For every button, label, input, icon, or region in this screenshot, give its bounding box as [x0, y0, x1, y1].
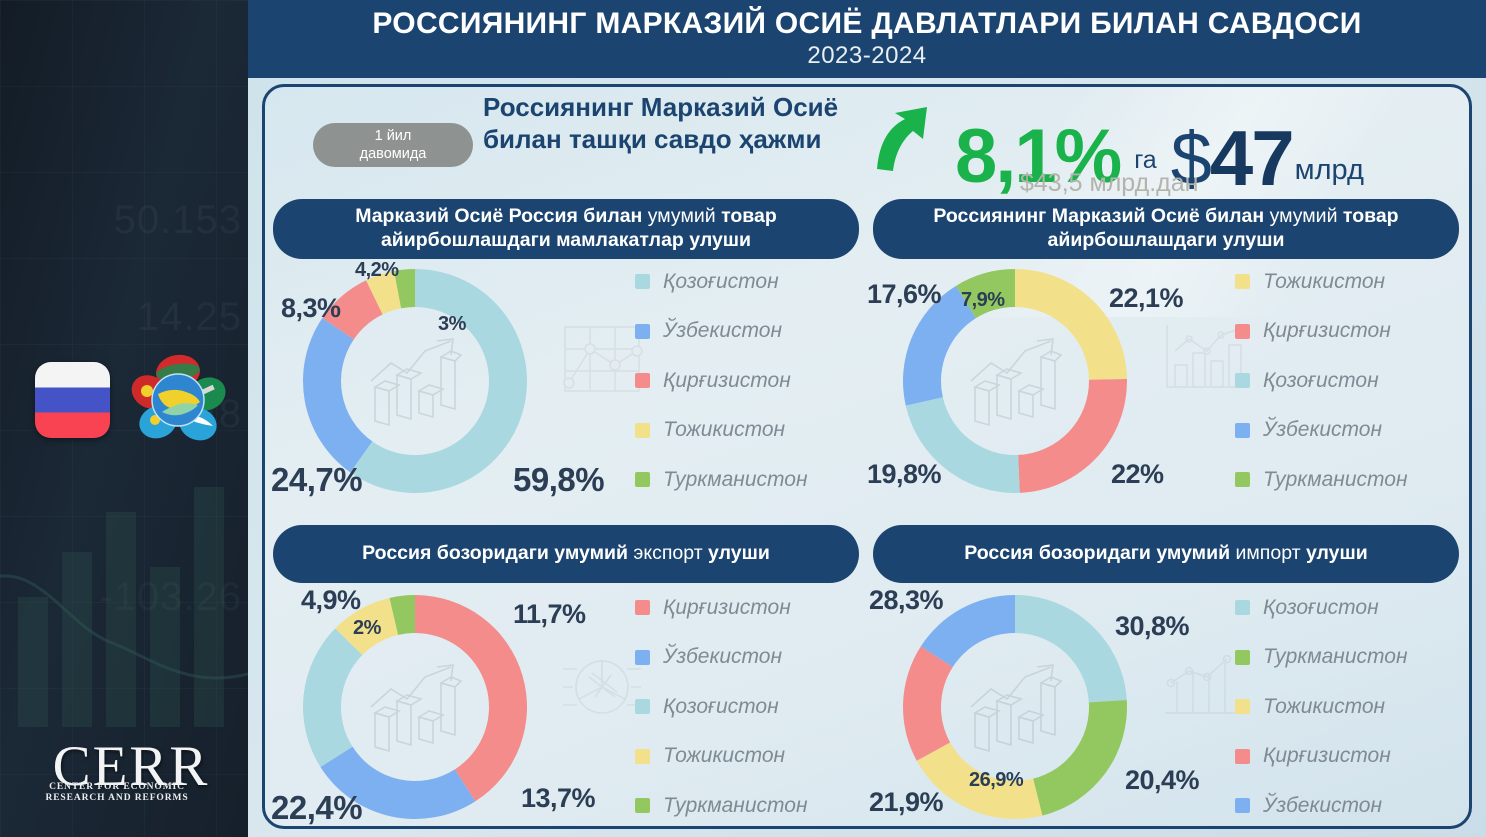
q4-label-kyrgyzstan: 21,9%: [869, 787, 943, 818]
board: 1 йил давомида Россиянинг Марказий Осиё …: [248, 78, 1486, 837]
legend-swatch-icon: [1235, 373, 1250, 388]
legend-item: Қирғизистон: [635, 356, 857, 406]
q1-label-tajikistan: 4,2%: [355, 259, 399, 282]
legend-q2: ТожикистонҚирғизистонҚозоғистонЎзбекисто…: [1235, 257, 1457, 505]
previous-amount: $43,5 млрд.дан: [1020, 169, 1198, 198]
legend-swatch-icon: [1235, 324, 1250, 339]
amount-unit: млрд: [1295, 154, 1364, 187]
quadrant-title-q3: Россия бозоридаги умумий экспорт улуши: [273, 525, 859, 583]
q4-label-uzbekistan: 20,4%: [1125, 765, 1199, 796]
legend-label: Қирғизистон: [663, 369, 791, 393]
legend-label: Ўзбекистон: [1263, 418, 1382, 442]
bg-number-4: -103.26: [99, 575, 242, 620]
legend-swatch-icon: [635, 423, 650, 438]
sidebar: 50.153 14.25 48 -103.26: [0, 0, 248, 837]
legend-swatch-icon: [635, 274, 650, 289]
quadrant-body-q4: 26,9% 28,3% 30,8% 21,9% 20,4% Қозоғистон…: [873, 587, 1459, 829]
legend-item: Қирғизистон: [635, 583, 857, 633]
infographic-root: 50.153 14.25 48 -103.26: [0, 0, 1486, 837]
legend-label: Тожикистон: [663, 744, 785, 768]
summary-title: Россиянинг Марказий Осиё билан ташқи сав…: [483, 92, 843, 155]
legend-item: Туркманистон: [635, 781, 857, 829]
quadrant-total-trade-share: Марказий Осиё Россия билан умумий товар …: [273, 199, 859, 517]
legend-label: Қирғизистон: [1263, 319, 1391, 343]
q1-label-uzbekistan: 24,7%: [271, 461, 362, 499]
bar-chart-arrow-icon: [967, 335, 1063, 427]
q4-label-kazakhstan: 30,8%: [1115, 611, 1189, 642]
legend-swatch-icon: [1235, 472, 1250, 487]
legend-label: Тожикистон: [1263, 270, 1385, 294]
quadrant-export-share: Россия бозоридаги умумий экспорт улуши: [273, 525, 859, 829]
page-header: РОССИЯНИНГ МАРКАЗИЙ ОСИЁ ДАВЛАТЛАРИ БИЛА…: [248, 0, 1486, 78]
period-badge: 1 йил давомида: [313, 123, 473, 167]
q3-title-thin: экспорт: [633, 542, 702, 564]
quadrant-body-q2: 7,9% 17,6% 22,1% 19,8% 22% ТожикистонҚир…: [873, 261, 1459, 517]
legend-label: Туркманистон: [663, 468, 808, 492]
q1-label-turkmenistan: 3%: [438, 313, 466, 336]
q1-label-kazakhstan: 59,8%: [513, 461, 604, 499]
legend-item: Қирғизистон: [1235, 732, 1457, 782]
legend-label: Қозоғистон: [663, 270, 779, 294]
bg-number-1: 50.153: [114, 198, 242, 243]
bar-chart-arrow-icon: [967, 661, 1063, 753]
legend-swatch-icon: [635, 650, 650, 665]
amount-value: 47: [1210, 127, 1293, 191]
legend-label: Туркманистон: [1263, 468, 1408, 492]
q2-title-bold1: Россиянинг Марказий Осиё билан: [933, 205, 1264, 227]
legend-swatch-icon: [635, 373, 650, 388]
legend-swatch-icon: [635, 600, 650, 615]
amount-group: $ 47 млрд: [1171, 126, 1364, 191]
legend-label: Қозоғистон: [663, 695, 779, 719]
flags-group: [30, 345, 220, 455]
legend-item: Тожикистон: [1235, 682, 1457, 732]
cerr-sub-line1: CENTER FOR ECONOMIC: [22, 782, 212, 794]
central-asia-emblem-icon: [128, 350, 228, 450]
q2-label-uzbekistan: 17,6%: [867, 279, 941, 310]
bar-line-chart-icon: [1159, 321, 1245, 401]
line-chart-bars-icon: [1159, 647, 1245, 727]
legend-swatch-icon: [1235, 600, 1250, 615]
legend-q3: ҚирғизистонЎзбекистонҚозоғистонТожикисто…: [635, 583, 857, 829]
donut-segment: [303, 318, 372, 472]
cerr-logo: CERR CENTER FOR ECONOMIC RESEARCH AND RE…: [36, 740, 226, 805]
donut-segment: [303, 628, 362, 767]
legend-swatch-icon: [1235, 650, 1250, 665]
legend-label: Туркманистон: [663, 794, 808, 818]
quadrant-russia-share-of-trade: Россиянинг Марказий Осиё билан умумий то…: [873, 199, 1459, 517]
q3-label-turkmenistan: 2%: [353, 617, 381, 640]
legend-q1: ҚозоғистонЎзбекистонҚирғизистонТожикисто…: [635, 257, 857, 505]
q1-title-thin: умумий: [648, 205, 716, 227]
legend-swatch-icon: [1235, 798, 1250, 813]
q3-title-bold1: Россия бозоридаги умумий: [362, 542, 628, 564]
legend-label: Қозоғистон: [1263, 596, 1379, 620]
legend-label: Ўзбекистон: [663, 319, 782, 343]
scatter-grid-icon: [559, 321, 645, 401]
page-title: РОССИЯНИНГ МАРКАЗИЙ ОСИЁ ДАВЛАТЛАРИ БИЛА…: [372, 8, 1361, 40]
page-subtitle-years: 2023-2024: [807, 42, 926, 70]
cerr-logo-subtitle: CENTER FOR ECONOMIC RESEARCH AND REFORMS: [22, 782, 212, 805]
quadrant-body-q3: 2% 4,9% 11,7% 13,7% 22,4% ҚирғизистонЎзб…: [273, 587, 859, 829]
bar-chart-arrow-icon: [367, 335, 463, 427]
legend-swatch-icon: [1235, 749, 1250, 764]
legend-label: Қирғизистон: [663, 596, 791, 620]
quadrant-title-q1: Марказий Осиё Россия билан умумий товар …: [273, 199, 859, 259]
legend-item: Қозоғистон: [635, 257, 857, 307]
legend-label: Қозоғистон: [1263, 369, 1379, 393]
q4-label-turkmenistan: 28,3%: [869, 585, 943, 616]
summary-row: 1 йил давомида Россиянинг Марказий Осиё …: [265, 87, 1469, 191]
period-badge-line2: давомида: [360, 145, 427, 163]
legend-item: Туркманистон: [1235, 633, 1457, 683]
legend-item: Туркманистон: [1235, 455, 1457, 505]
q3-label-kyrgyzstan: 22,4%: [271, 789, 362, 827]
q1-title-bold1: Марказий Осиё Россия билан: [355, 205, 642, 227]
quadrant-title-q2: Россиянинг Марказий Осиё билан умумий то…: [873, 199, 1459, 259]
legend-swatch-icon: [635, 699, 650, 714]
legend-label: Туркманистон: [1263, 645, 1408, 669]
q2-title-thin: умумий: [1270, 205, 1338, 227]
legend-item: Қирғизистон: [1235, 307, 1457, 357]
q2-label-tajikistan: 22,1%: [1109, 283, 1183, 314]
quadrant-title-q4: Россия бозоридаги умумий импорт улуши: [873, 525, 1459, 583]
russia-flag-icon: [35, 362, 110, 438]
q3-label-tajikistan: 4,9%: [301, 585, 361, 616]
q2-label-kazakhstan: 19,8%: [867, 459, 941, 490]
q4-title-bold2: улуши: [1306, 542, 1368, 564]
legend-swatch-icon: [635, 749, 650, 764]
legend-swatch-icon: [1235, 699, 1250, 714]
legend-label: Ўзбекистон: [1263, 794, 1382, 818]
q1-label-kyrgyzstan: 8,3%: [281, 293, 341, 324]
q3-label-kazakhstan: 11,7%: [513, 599, 586, 630]
legend-item: Ўзбекистон: [635, 633, 857, 683]
legend-swatch-icon: [635, 472, 650, 487]
legend-item: Туркманистон: [635, 455, 857, 505]
legend-swatch-icon: [635, 324, 650, 339]
quadrant-import-share: Россия бозоридаги умумий импорт улуши: [873, 525, 1459, 829]
q2-label-kyrgyzstan: 22%: [1111, 459, 1164, 490]
legend-item: Қозоғистон: [1235, 356, 1457, 406]
legend-item: Тожикистон: [635, 406, 857, 456]
legend-swatch-icon: [635, 798, 650, 813]
legend-swatch-icon: [1235, 274, 1250, 289]
q4-title-thin: импорт: [1235, 542, 1300, 564]
legend-item: Ўзбекистон: [1235, 406, 1457, 456]
legend-q4: ҚозоғистонТуркманистонТожикистонҚирғизис…: [1235, 583, 1457, 829]
legend-label: Тожикистон: [663, 418, 785, 442]
donut-segment: [903, 646, 953, 760]
q3-title-bold2: улуши: [708, 542, 770, 564]
quadrant-body-q1: 4,2% 8,3% 3% 24,7% 59,8% ҚозоғистонЎзбек…: [273, 261, 859, 517]
bg-number-2: 14.25: [137, 295, 242, 340]
q2-label-turkmenistan: 7,9%: [961, 289, 1005, 312]
period-badge-line1: 1 йил: [375, 127, 412, 145]
legend-item: Ўзбекистон: [1235, 781, 1457, 829]
pie-chart-icon: [559, 647, 645, 727]
bar-chart-arrow-icon: [367, 661, 463, 753]
legend-label: Ўзбекистон: [663, 645, 782, 669]
legend-item: Тожикистон: [1235, 257, 1457, 307]
legend-label: Тожикистон: [1263, 695, 1385, 719]
legend-item: Қозоғистон: [1235, 583, 1457, 633]
legend-item: Тожикистон: [635, 732, 857, 782]
cerr-sub-line2: RESEARCH AND REFORMS: [22, 793, 212, 805]
arrow-up-icon: [865, 103, 937, 175]
legend-label: Қирғизистон: [1263, 744, 1391, 768]
q4-label-tajikistan: 26,9%: [969, 769, 1023, 792]
legend-item: Қозоғистон: [635, 682, 857, 732]
q3-label-uzbekistan: 13,7%: [521, 783, 595, 814]
legend-item: Ўзбекистон: [635, 307, 857, 357]
legend-swatch-icon: [1235, 423, 1250, 438]
main-panel: 1 йил давомида Россиянинг Марказий Осиё …: [262, 84, 1472, 829]
q4-title-bold1: Россия бозоридаги умумий: [964, 542, 1230, 564]
